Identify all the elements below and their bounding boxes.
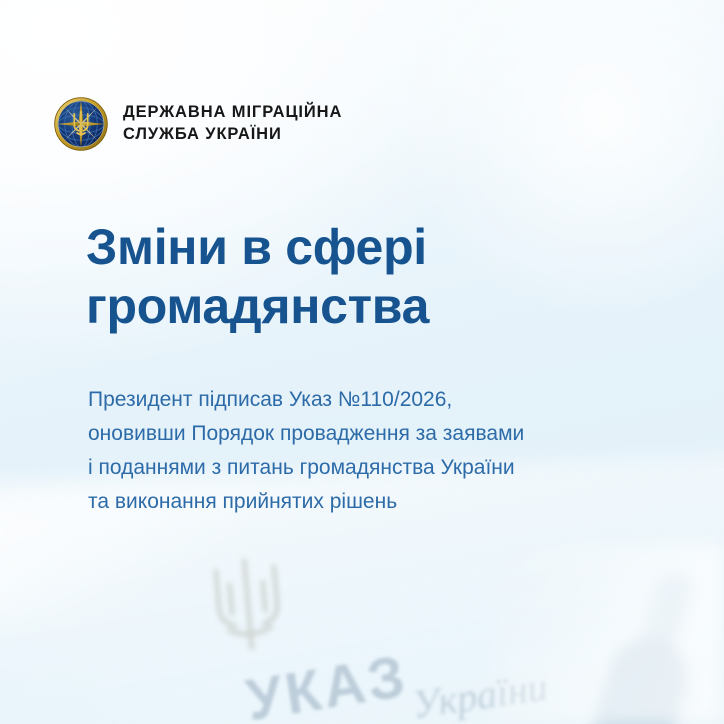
body-line-2: оновивши Порядок провадження за заявами [88, 417, 668, 451]
body-line-4: та виконання прийнятих рішень [88, 485, 668, 519]
logo-line-2: СЛУЖБА УКРАЇНИ [123, 124, 342, 146]
dms-ukraine-emblem-icon [53, 96, 109, 152]
body-text: Президент підписав Указ №110/2026, онови… [88, 383, 668, 519]
logo-line-1: ДЕРЖАВНА МІГРАЦІЙНА [123, 102, 342, 124]
body-line-1: Президент підписав Указ №110/2026, [88, 383, 668, 417]
gradient-rule [88, 348, 637, 359]
logo-text-block: ДЕРЖАВНА МІГРАЦІЙНА СЛУЖБА УКРАЇНИ [123, 102, 342, 146]
logo-lockup: ДЕРЖАВНА МІГРАЦІЙНА СЛУЖБА УКРАЇНИ [53, 96, 342, 152]
page-title: Зміни в сфері громадянства [86, 218, 646, 335]
body-line-3: і поданнями з питань громадянства Україн… [88, 451, 668, 485]
page-title-line-1: Зміни в сфері [86, 218, 646, 277]
infographic-card: УКАЗ України [0, 0, 724, 724]
page-title-line-2: громадянства [86, 277, 646, 336]
